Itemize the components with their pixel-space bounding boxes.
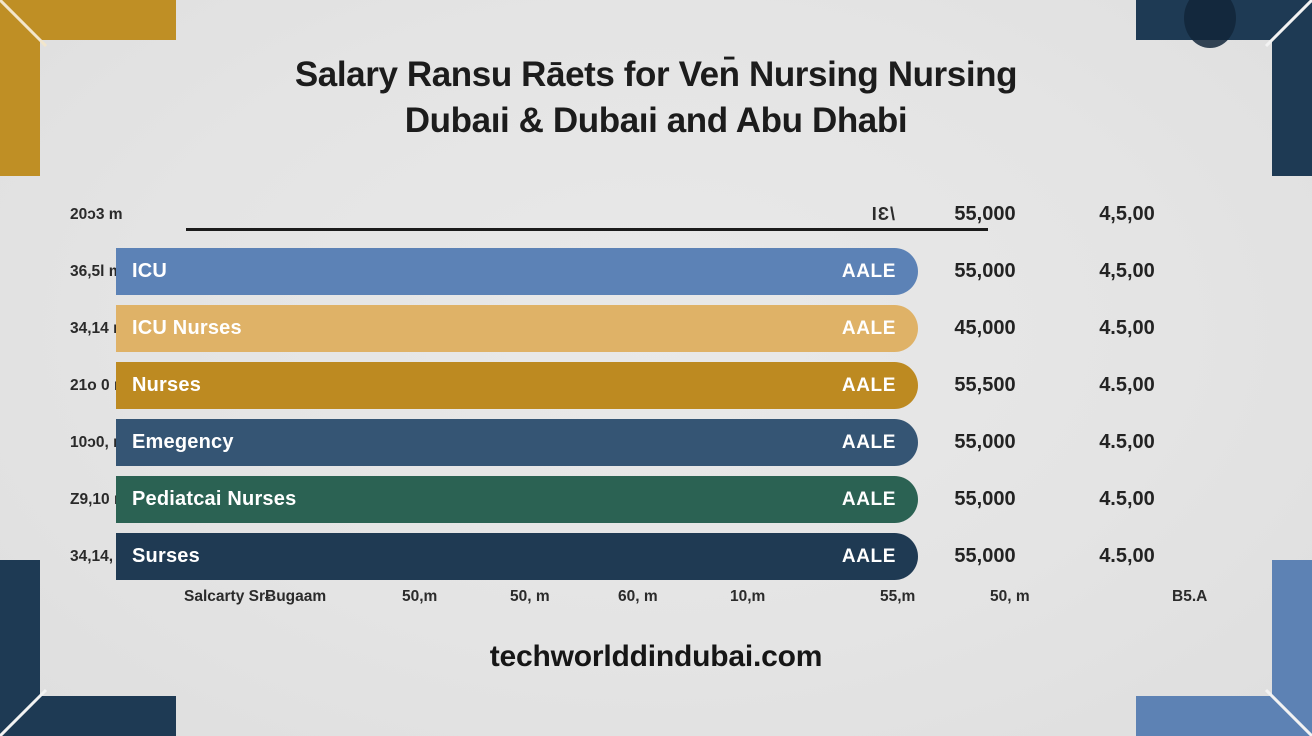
bar-icu-nurses[interactable]: ICU NursesAALE <box>116 305 918 352</box>
row-mid-value: 55,000 <box>918 260 1052 283</box>
bar-category-label: ICU Nurses <box>132 317 242 340</box>
row-left-value: 34,14, m <box>0 548 116 566</box>
bar-tag-label: AALE <box>842 432 896 454</box>
title-line-1: Salary Ransu Rāets for Ven̄ Nursing Nurs… <box>0 52 1312 98</box>
header-mid-value: 55,000 <box>918 203 1052 226</box>
row-mid-value: 55,000 <box>918 488 1052 511</box>
page-title: Salary Ransu Rāets for Ven̄ Nursing Nurs… <box>0 52 1312 144</box>
axis-tick-label: Salcarty SrɃugaam <box>184 588 326 606</box>
bar-category-label: Nurses <box>132 374 201 397</box>
header-tag: IƐ\ <box>872 204 896 225</box>
row-left-value: 21o 0 m <box>0 377 116 395</box>
header-divider <box>186 228 988 231</box>
row-left-value: 34,14 m <box>0 320 116 338</box>
table-row: 34,14, mSursesAALE55,0004.5,00 <box>0 528 1312 585</box>
row-left-value: Z9,10 m <box>0 491 116 509</box>
title-line-2: Dubaıi & Dubaıi and Abu Dhabi <box>0 98 1312 144</box>
row-mid-value: 45,000 <box>918 317 1052 340</box>
row-right-value: 4.5,00 <box>1052 431 1202 454</box>
header-right-value: 4,5,00 <box>1052 203 1202 226</box>
bar-tag-label: AALE <box>842 546 896 568</box>
row-left-value: 36,5l m <box>0 263 116 281</box>
table-row: Z9,10 mPediatcai NursesAALE55,0004.5,00 <box>0 471 1312 528</box>
axis-tick-label: 10,m <box>730 588 765 606</box>
row-right-value: 4.5,00 <box>1052 488 1202 511</box>
axis-tick-label: 55,m <box>880 588 915 606</box>
bar-category-label: Pediatcai Nurses <box>132 488 296 511</box>
axis-tick-label: 50,m <box>402 588 437 606</box>
bar-surses[interactable]: SursesAALE <box>116 533 918 580</box>
table-row: 34,14 mICU NursesAALE45,0004.5,00 <box>0 300 1312 357</box>
bar-tag-label: AALE <box>842 375 896 397</box>
table-row: 36,5l mICUAALE55,0004,5,00 <box>0 243 1312 300</box>
row-mid-value: 55,000 <box>918 545 1052 568</box>
bar-tag-label: AALE <box>842 261 896 283</box>
row-right-value: 4.5,00 <box>1052 317 1202 340</box>
axis-tick-label: 50, m <box>510 588 550 606</box>
salary-bar-chart: 20ɔ3 m IƐ\ 55,000 4,5,00 36,5l mICUAALE5… <box>0 186 1312 585</box>
bar-icu[interactable]: ICUAALE <box>116 248 918 295</box>
bar-tag-label: AALE <box>842 489 896 511</box>
row-right-value: 4.5,00 <box>1052 374 1202 397</box>
chart-axis: Salcarty SrɃugaam50,m50, m60, m10,m55,m5… <box>0 588 1312 622</box>
infographic-canvas: Salary Ransu Rāets for Ven̄ Nursing Nurs… <box>0 0 1312 736</box>
axis-tick-label: 50, m <box>990 588 1030 606</box>
bar-category-label: Emegency <box>132 431 234 454</box>
bar-nurses[interactable]: NursesAALE <box>116 362 918 409</box>
bar-emegency[interactable]: EmegencyAALE <box>116 419 918 466</box>
bar-category-label: ICU <box>132 260 167 283</box>
table-row: 10ɔ0, mEmegencyAALE55,0004.5,00 <box>0 414 1312 471</box>
bar-category-label: Surses <box>132 545 200 568</box>
table-row: 21o 0 mNursesAALE55,5004.5,00 <box>0 357 1312 414</box>
row-right-value: 4,5,00 <box>1052 260 1202 283</box>
header-left-value: 20ɔ3 m <box>0 206 116 224</box>
bar-pediatcai-nurses[interactable]: Pediatcai NursesAALE <box>116 476 918 523</box>
row-mid-value: 55,000 <box>918 431 1052 454</box>
row-right-value: 4.5,00 <box>1052 545 1202 568</box>
bar-tag-label: AALE <box>842 318 896 340</box>
row-left-value: 10ɔ0, m <box>0 434 116 452</box>
chart-header-row: 20ɔ3 m IƐ\ 55,000 4,5,00 <box>0 186 1312 243</box>
axis-tick-label: B5.A <box>1172 588 1207 606</box>
chart-rows: 36,5l mICUAALE55,0004,5,0034,14 mICU Nur… <box>0 243 1312 585</box>
footer-watermark: techworlddindubai.com <box>0 640 1312 674</box>
row-mid-value: 55,500 <box>918 374 1052 397</box>
axis-tick-label: 60, m <box>618 588 658 606</box>
